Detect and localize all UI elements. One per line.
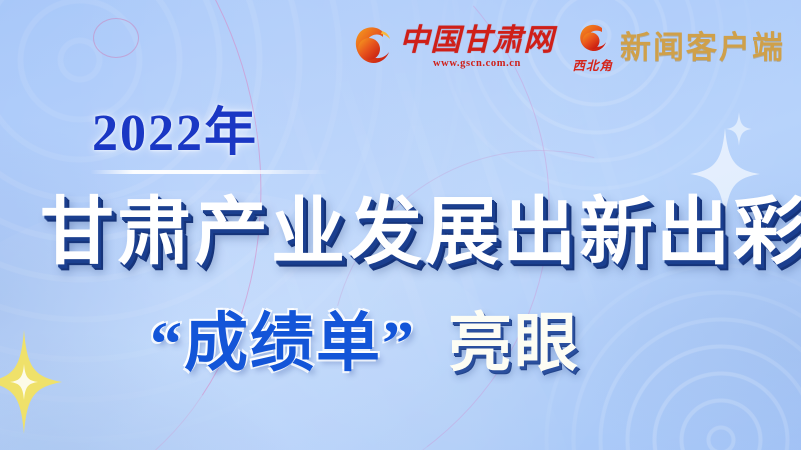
page-title: 甘肃产业发展出新出彩 <box>40 196 801 270</box>
brand-bar: 中国甘肃网 www.gscn.com.cn <box>352 22 785 73</box>
brand-gscn-text: 中国甘肃网 www.gscn.com.cn <box>399 26 554 69</box>
brand-gscn-url: www.gscn.com.cn <box>433 58 521 69</box>
year-block: 2022年 <box>92 108 258 160</box>
swirl-flame-logo-icon <box>578 22 608 59</box>
year-label: 2022年 <box>92 108 258 160</box>
brand-gscn[interactable]: 中国甘肃网 www.gscn.com.cn <box>352 23 554 72</box>
swirl-flame-logo-icon <box>352 23 392 72</box>
subtitle: “成绩单” 亮眼 <box>150 312 580 376</box>
subtitle-quoted: “成绩单” <box>150 312 416 376</box>
decorative-circle-pink-small <box>93 18 139 58</box>
brand-xibeijiao[interactable]: 西北角 新闻客户端 <box>572 22 785 73</box>
year-underline <box>90 170 330 174</box>
brand-xibeijiao-mark: 西北角 <box>572 22 613 73</box>
brand-app-name: 新闻客户端 <box>620 32 785 63</box>
sparkle-icon <box>726 112 752 146</box>
brand-xibeijiao-text: 西北角 <box>572 60 613 73</box>
brand-gscn-name: 中国甘肃网 <box>399 26 554 56</box>
sparkle-icon <box>0 330 62 434</box>
poster-canvas: 中国甘肃网 www.gscn.com.cn <box>0 0 801 450</box>
subtitle-highlight: 亮眼 <box>448 312 580 376</box>
